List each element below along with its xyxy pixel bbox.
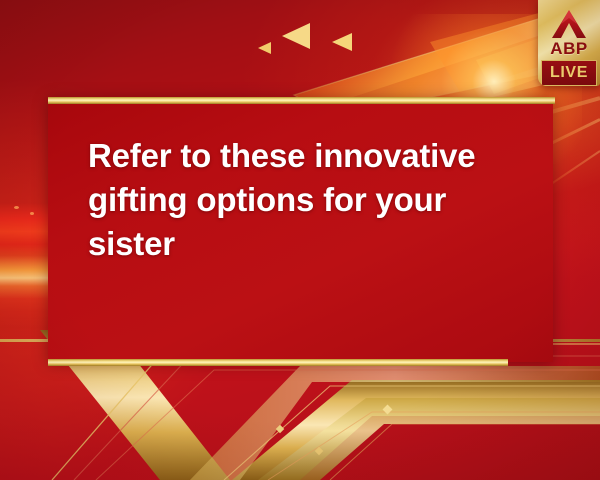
light-speck (14, 206, 19, 209)
gold-arrow-medium-left-icon (332, 33, 352, 51)
gold-arrow-large-left-icon (282, 23, 310, 49)
live-badge: LIVE (541, 60, 597, 86)
abp-caret-icon (551, 9, 587, 39)
panel-bottom-rule (48, 359, 508, 366)
headline-text: Refer to these innovative gifting option… (88, 134, 508, 266)
live-badge-label: LIVE (550, 65, 588, 81)
abp-live-logo[interactable]: ABP LIVE (538, 0, 600, 86)
abp-wordmark: ABP (550, 40, 587, 57)
panel-top-rule (48, 97, 555, 104)
gold-arrow-small-left-icon (258, 42, 271, 54)
light-speck (30, 212, 34, 215)
headline-card: Refer to these innovative gifting option… (0, 0, 600, 480)
